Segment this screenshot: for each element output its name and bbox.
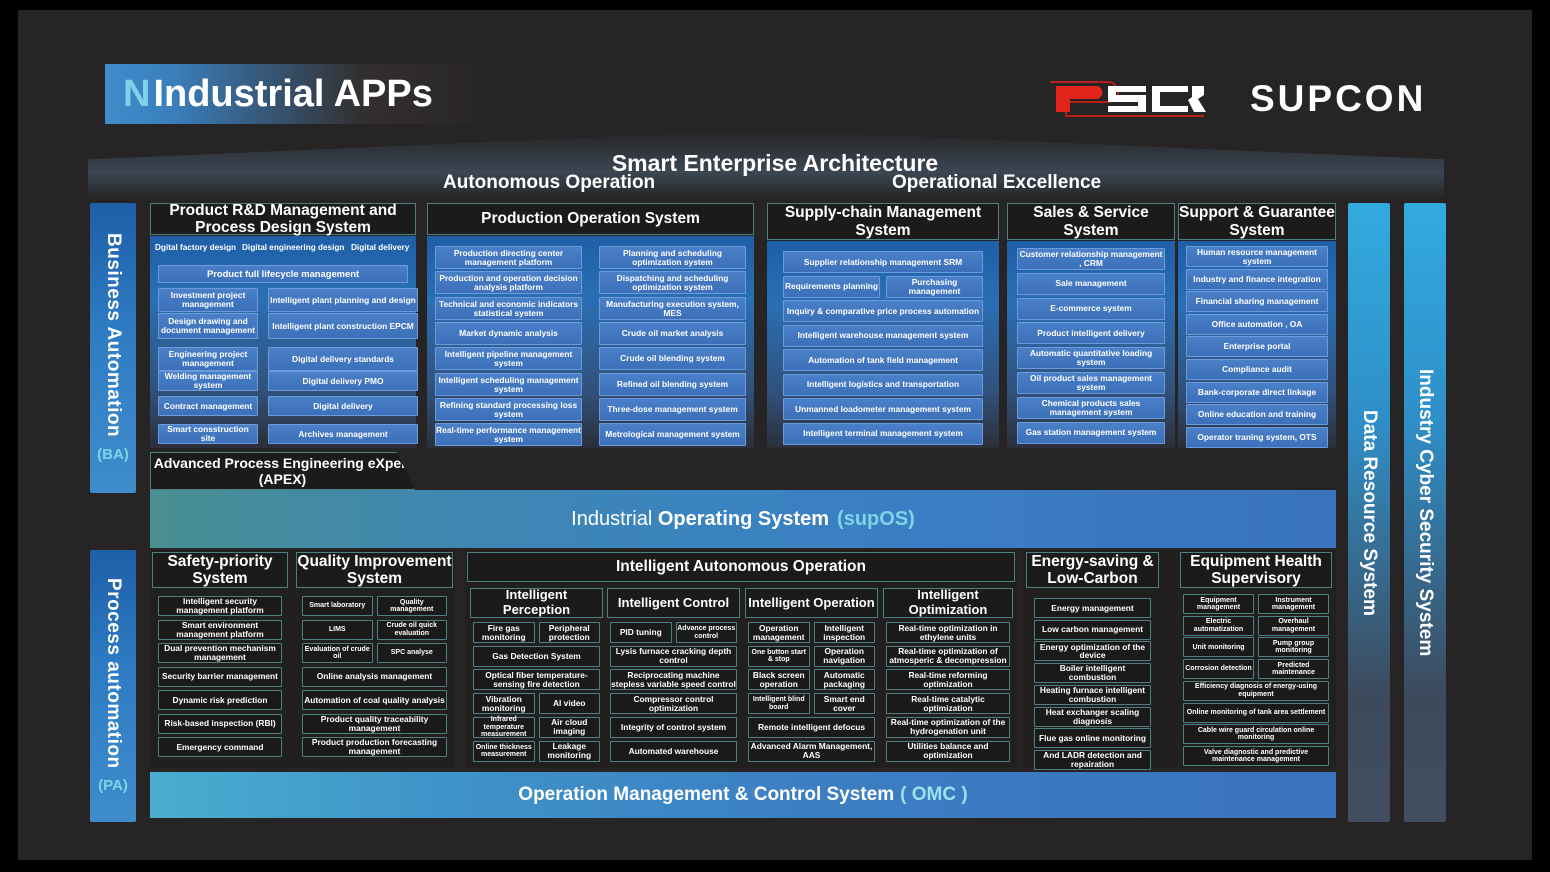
app-chip[interactable]: Gas Detection System <box>473 646 600 667</box>
app-chip[interactable]: Online monitoring of tank area settlemen… <box>1183 703 1329 723</box>
app-chip[interactable]: Refined oil blending system <box>599 373 746 396</box>
app-chip[interactable]: Intelligent terminal management system <box>783 423 983 445</box>
app-chip[interactable]: Sale management <box>1017 273 1165 295</box>
app-chip[interactable]: Supplier relationship management SRM <box>783 251 983 273</box>
app-chip[interactable]: SPC analyse <box>377 643 448 663</box>
app-chip[interactable]: Contract management <box>158 396 258 416</box>
section-equipment-health: Equipment Health Supervisory <box>1180 552 1332 588</box>
app-chip[interactable]: Cable wire guard circulation online moni… <box>1183 724 1329 744</box>
app-chip[interactable]: One button start & stop <box>748 646 810 667</box>
app-chip[interactable]: Compliance audit <box>1186 359 1328 380</box>
app-chip[interactable]: Predicted maintenance <box>1258 659 1329 679</box>
app-chip[interactable]: Flue gas online monitoring <box>1034 728 1151 748</box>
app-chip[interactable]: Electric automatization <box>1183 616 1254 636</box>
tag-label: Digital engineering design <box>242 243 344 252</box>
app-chip[interactable]: Financial sharing management <box>1186 291 1328 312</box>
app-chip[interactable]: Efficiency diagnosis of energy-using equ… <box>1183 681 1329 701</box>
app-chip[interactable]: Corrosion detection <box>1183 659 1254 679</box>
app-chip[interactable]: Real-time catalytic optimization <box>886 693 1010 714</box>
rail-process-automation[interactable]: Process automation (PA) <box>90 550 136 822</box>
app-chip[interactable]: Advance process control <box>676 622 738 643</box>
app-chip[interactable]: Automatic packaging <box>814 669 876 690</box>
architecture-right-label: Operational Excellence <box>892 172 1101 194</box>
app-chip[interactable]: Crude oil quick evaluation <box>377 620 448 640</box>
section-production-operation: Production Operation System <box>427 203 754 235</box>
app-chip[interactable]: Crude oil blending system <box>599 347 746 370</box>
app-chip[interactable]: Customer relationship management , CRM <box>1017 248 1165 270</box>
app-chip[interactable]: Fire gas monitoring <box>473 622 535 643</box>
app-chip[interactable]: Human resource management system <box>1186 246 1328 267</box>
app-chip[interactable]: Vibration monitoring <box>473 693 535 714</box>
section-title: Intelligent Control <box>618 596 729 611</box>
section-optimization: Intelligent Optimization <box>883 588 1013 618</box>
rail-cyber-label: Industry Cyber Security System <box>1414 369 1436 656</box>
app-chip[interactable]: Product full lifecycle management <box>158 265 408 283</box>
app-chip[interactable]: Online analysis management <box>302 667 447 687</box>
omc-band[interactable]: Operation Management & Control System ( … <box>150 772 1336 818</box>
app-chip[interactable]: Black screen operation <box>748 669 810 690</box>
app-chip[interactable]: Welding management system <box>158 371 258 391</box>
app-chip[interactable]: Advanced Alarm Management, AAS <box>748 741 875 762</box>
app-chip[interactable]: LIMS <box>302 620 373 640</box>
app-chip[interactable]: Valve diagnostic and predictive maintena… <box>1183 746 1329 766</box>
app-chip[interactable]: Emergency command <box>158 737 282 757</box>
app-chip[interactable]: Crude oil market analysis <box>599 322 746 345</box>
app-chip[interactable]: Automation of tank field management <box>783 349 983 371</box>
app-chip[interactable]: Dispatching and scheduling optimization … <box>599 271 746 294</box>
app-chip[interactable]: Archives management <box>268 424 418 444</box>
app-chip[interactable]: Digital delivery PMO <box>268 371 418 391</box>
supcon-logo: SUPCON <box>1250 78 1426 120</box>
rail-cyber-security-system[interactable]: Industry Cyber Security System <box>1404 203 1446 822</box>
app-chip[interactable]: Smart consstruction site <box>158 424 258 444</box>
app-chip[interactable]: Risk-based inspection (RBI) <box>158 714 282 734</box>
app-chip[interactable]: Boiler intelligent combustion <box>1034 663 1151 683</box>
supos-band[interactable]: Industrial Operating System (supOS) <box>150 490 1336 548</box>
app-chip[interactable]: Integrity of control system <box>610 717 737 738</box>
tag-label: Digital delivery <box>351 243 409 252</box>
app-chip[interactable]: Operation navigation <box>814 646 876 667</box>
app-chip[interactable]: AI video <box>539 693 601 714</box>
app-chip[interactable]: Intelligent warehouse management system <box>783 325 983 347</box>
psck-logo <box>1046 76 1211 120</box>
app-chip[interactable]: Gas station management system <box>1017 422 1165 444</box>
app-chip[interactable]: Low carbon management <box>1034 620 1151 640</box>
section-safety-priority: Safety-priority System <box>152 552 288 588</box>
section-title: Sales & Service System <box>1008 204 1174 239</box>
rail-ba-label: Business Automation <box>102 233 124 437</box>
app-chip[interactable]: Chemical products sales management syste… <box>1017 397 1165 419</box>
section-title: Quality Improvement System <box>297 553 452 588</box>
app-chip[interactable]: Refining standard processing loss system <box>435 398 582 421</box>
app-chip[interactable]: Oil product sales management system <box>1017 372 1165 394</box>
app-chip[interactable]: Inquiry & comparative price process auto… <box>783 300 983 322</box>
section-title: Intelligent Operation <box>748 596 874 611</box>
app-chip[interactable]: E-commerce system <box>1017 298 1165 320</box>
section-intelligent-autonomous-operation: Intelligent Autonomous Operation <box>467 552 1015 582</box>
section-energy-saving: Energy-saving & Low-Carbon <box>1026 552 1159 588</box>
app-chip[interactable]: Instrument management <box>1258 594 1329 614</box>
section-operation: Intelligent Operation <box>745 588 878 618</box>
app-chip[interactable]: Real-time performance management system <box>435 423 582 446</box>
omc-tag: ( OMC ) <box>900 784 968 806</box>
app-chip[interactable]: And LADR detection and repairation <box>1034 750 1151 770</box>
app-chip[interactable]: Enterprise portal <box>1186 336 1328 357</box>
slide-canvas: N Industrial APPs SUPCON Smart Enterpris… <box>0 0 1550 872</box>
app-chip[interactable]: Online thickness measurement <box>473 741 535 762</box>
app-chip[interactable]: Investment project management <box>158 288 258 312</box>
app-chip[interactable]: Engineering project management <box>158 347 258 371</box>
app-chip[interactable]: Compressor control optimization <box>610 693 737 714</box>
app-chip[interactable]: Quality management <box>377 596 448 616</box>
app-chip[interactable]: Unmanned loadometer management system <box>783 398 983 420</box>
app-chip[interactable]: Product production forecasting managemen… <box>302 737 447 757</box>
supos-tag: (supOS) <box>837 508 915 531</box>
app-chip[interactable]: Production and operation decision analys… <box>435 271 582 294</box>
section-product-rd: Product R&D Management and Process Desig… <box>150 203 416 235</box>
app-chip[interactable]: Intelligent plant planning and design <box>268 288 418 312</box>
app-chip[interactable]: Security barrier management <box>158 667 282 687</box>
app-chip[interactable]: Dual prevention mechanism management <box>158 643 282 663</box>
app-chip[interactable]: Leakage monitoring <box>539 741 601 762</box>
app-chip[interactable]: Energy management <box>1034 598 1151 618</box>
app-chip[interactable]: Lysis furnace cracking depth control <box>610 646 737 667</box>
app-chip[interactable]: Evaluation of crude oil <box>302 643 373 663</box>
section-title: Intelligent Perception <box>471 588 602 617</box>
app-chip[interactable]: Planning and scheduling optimization sys… <box>599 246 746 269</box>
app-chip[interactable]: Air cloud imaging <box>539 717 601 738</box>
section-title: Energy-saving & Low-Carbon <box>1027 553 1158 588</box>
app-chip[interactable]: Three-dose management system <box>599 398 746 421</box>
app-chip[interactable]: Intelligent inspection <box>814 622 876 643</box>
app-chip[interactable]: Intelligent scheduling management system <box>435 373 582 396</box>
architecture-title: Smart Enterprise Architecture <box>0 150 1550 177</box>
rail-business-automation[interactable]: Business Automation (BA) <box>90 203 136 493</box>
app-chip[interactable]: Intelligent pipeline management system <box>435 347 582 370</box>
section-title: Product R&D Management and Process Desig… <box>151 202 415 237</box>
rail-ba-sub: (BA) <box>97 446 129 463</box>
section-sales-service: Sales & Service System <box>1007 203 1175 240</box>
app-chip[interactable]: Real-time optimization in ethylene units <box>886 622 1010 643</box>
app-chip[interactable]: Requirements planning <box>783 276 880 298</box>
app-chip[interactable]: Reciprocating machine stepless variable … <box>610 669 737 690</box>
rail-pa-sub: (PA) <box>98 777 128 794</box>
app-chip[interactable]: Unit monitoring <box>1183 637 1254 657</box>
rail-data-label: Data Resource System <box>1358 410 1380 616</box>
title-text: Industrial APPs <box>153 73 432 116</box>
app-chip[interactable]: Intelligent plant construction EPCM <box>268 313 418 339</box>
app-chip[interactable]: Smart end cover <box>814 693 876 714</box>
app-chip[interactable]: Automated warehouse <box>610 741 737 762</box>
app-chip[interactable]: Remote intelligent defocus <box>748 717 875 738</box>
app-chip[interactable]: Smart laboratory <box>302 596 373 616</box>
app-chip[interactable]: Bank-corporate direct linkage <box>1186 382 1328 403</box>
app-chip[interactable]: PID tuning <box>610 622 672 643</box>
apex-label: Advanced Process Engineering eXpert (APE… <box>151 455 414 487</box>
section-title: Support & Guarantee System <box>1179 204 1335 239</box>
app-chip[interactable]: Energy optimization of the device <box>1034 641 1151 661</box>
app-chip[interactable]: Heating furnace intelligent combustion <box>1034 685 1151 705</box>
section-title: Intelligent Optimization <box>884 588 1012 617</box>
app-chip[interactable]: Intelligent logistics and transportation <box>783 374 983 396</box>
app-chip[interactable]: Intelligent blind board <box>748 693 810 714</box>
app-chip[interactable]: Industry and finance integration <box>1186 269 1328 290</box>
app-chip[interactable]: Heat exchanger scaling diagnosis <box>1034 707 1151 727</box>
app-chip[interactable]: Operator traning system, OTS <box>1186 427 1328 448</box>
app-chip[interactable]: Automatic quantitative loading system <box>1017 347 1165 369</box>
section-title: Intelligent Autonomous Operation <box>616 558 866 575</box>
section-quality-improvement: Quality Improvement System <box>296 552 453 588</box>
app-chip[interactable]: Office automation , OA <box>1186 314 1328 335</box>
app-chip[interactable]: Production directing center management p… <box>435 246 582 269</box>
app-chip[interactable]: Technical and economic indicators statis… <box>435 297 582 320</box>
supos-prefix: Industrial <box>571 508 652 531</box>
app-chip[interactable]: Utilities balance and optimization <box>886 741 1010 762</box>
architecture-left-label: Autonomous Operation <box>443 172 655 194</box>
app-chip[interactable]: Design drawing and document management <box>158 313 258 339</box>
app-chip[interactable]: Equipment management <box>1183 594 1254 614</box>
app-chip[interactable]: Online education and training <box>1186 404 1328 425</box>
app-chip[interactable]: Real-time optimization of the hydrogenat… <box>886 717 1010 738</box>
section-control: Intelligent Control <box>607 588 740 618</box>
app-chip[interactable]: Real-time reforming optimization <box>886 669 1010 690</box>
app-chip[interactable]: Pump group monitoring <box>1258 637 1329 657</box>
app-chip[interactable]: Intelligent security management platform <box>158 596 282 616</box>
rail-data-resource-system[interactable]: Data Resource System <box>1348 203 1390 822</box>
section-support-guarantee: Support & Guarantee System <box>1178 203 1336 240</box>
section-perception: Intelligent Perception <box>470 588 603 618</box>
app-chip[interactable]: Purchasing management <box>886 276 983 298</box>
app-chip[interactable]: Digital delivery standards <box>268 347 418 371</box>
omc-label: Operation Management & Control System <box>518 784 894 806</box>
section-supply-chain: Supply-chain Management System <box>767 203 999 240</box>
section-title: Production Operation System <box>481 210 700 227</box>
app-chip[interactable]: Dynamic risk prediction <box>158 690 282 710</box>
app-chip[interactable]: Product quality traceability management <box>302 714 447 734</box>
app-chip[interactable]: Digital delivery <box>268 396 418 416</box>
app-chip[interactable]: Market dynamic analysis <box>435 322 582 345</box>
app-chip[interactable]: Manufacturing execution system, MES <box>599 297 746 320</box>
app-chip[interactable]: Smart environment management platform <box>158 620 282 640</box>
title-accent-letter: N <box>123 73 149 116</box>
app-chip[interactable]: Infrared temperature measurement <box>473 717 535 738</box>
page-title: N Industrial APPs <box>105 64 473 124</box>
app-chip[interactable]: Peripheral protection <box>539 622 601 643</box>
supos-main: Operating System <box>658 508 829 531</box>
rail-pa-label: Process automation <box>102 578 124 769</box>
app-chip[interactable]: Product intelligent delivery <box>1017 322 1165 344</box>
app-chip[interactable]: Real-time optimization of atmosperic & d… <box>886 646 1010 667</box>
app-chip[interactable]: Optical fiber temperature-sensing fire d… <box>473 669 600 690</box>
section-title: Equipment Health Supervisory <box>1181 553 1331 588</box>
tag-label: Dgital factory design <box>155 243 236 252</box>
app-chip[interactable]: Overhaul management <box>1258 616 1329 636</box>
app-chip[interactable]: Operation management <box>748 622 810 643</box>
section-title: Safety-priority System <box>153 553 287 588</box>
app-chip[interactable]: Automation of coal quality analysis <box>302 690 447 710</box>
section-title: Supply-chain Management System <box>768 204 998 239</box>
app-chip[interactable]: Metrological management system <box>599 423 746 446</box>
apex-tab[interactable]: Advanced Process Engineering eXpert (APE… <box>150 452 415 490</box>
